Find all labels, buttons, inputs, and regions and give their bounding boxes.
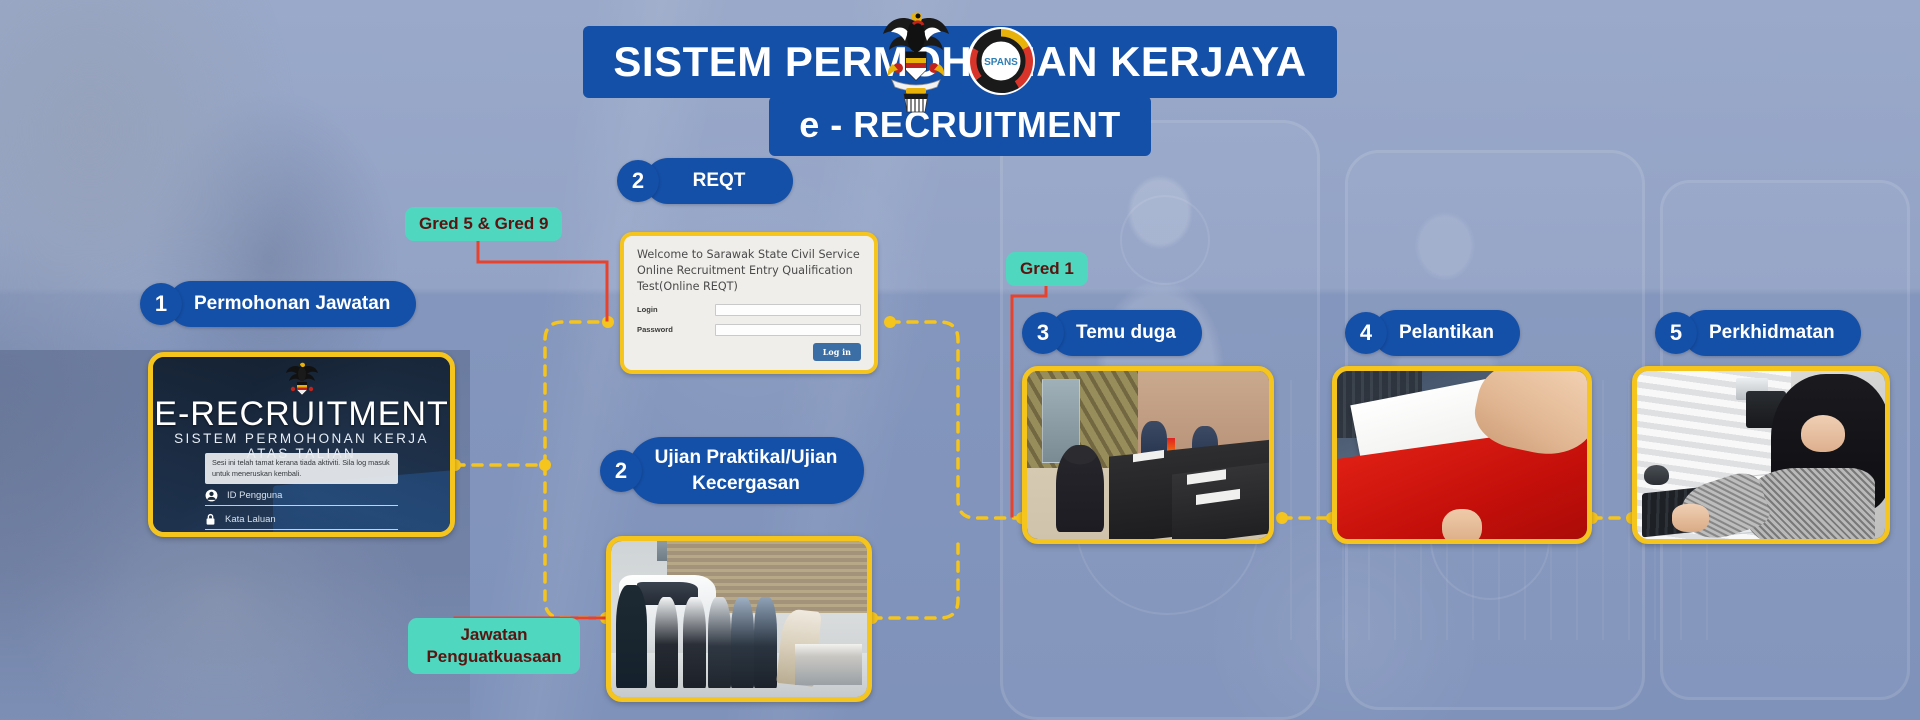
step-2-reqt-label: REQT	[645, 158, 793, 204]
step-3-number: 3	[1022, 312, 1064, 354]
reqt-login-label: Login	[637, 305, 715, 314]
reqt-login-button[interactable]: Log in	[813, 343, 861, 361]
photo-interview	[1027, 371, 1269, 539]
annotation-jawatan-penguatkuasaan: Jawatan Penguatkuasaan	[408, 618, 580, 674]
step-2-reqt[interactable]: 2 REQT	[617, 158, 793, 204]
step-5-label: Perkhidmatan	[1683, 310, 1861, 356]
reqt-password-input[interactable]	[715, 324, 861, 336]
step-2-reqt-number: 2	[617, 160, 659, 202]
annotation-gred-5-9: Gred 5 & Gred 9	[405, 207, 562, 241]
erecruitment-password-label: Kata Laluan	[225, 514, 276, 525]
erecruitment-login-card[interactable]: E-RECRUITMENT SISTEM PERMOHONAN KERJA AT…	[148, 352, 455, 537]
step-4-number: 4	[1345, 312, 1387, 354]
step-1-number: 1	[140, 283, 182, 325]
background-ring-1	[1120, 195, 1210, 285]
erecruitment-session-notice: Sesi ini telah tamat kerana tiada aktivi…	[205, 453, 398, 484]
step-5-number: 5	[1655, 312, 1697, 354]
photo-job-offer-card[interactable]: MR. LETTER OF EMPLOYMENT JOB OFFER LETTE…	[1332, 366, 1592, 544]
reqt-login-input[interactable]	[715, 304, 861, 316]
sarawak-coat-of-arms-icon	[880, 6, 952, 116]
step-2-ujian-label: Ujian Praktikal/Ujian Kecergasan	[628, 437, 864, 504]
reqt-password-row: Password	[637, 324, 861, 336]
lock-icon	[205, 513, 216, 526]
photo-job-offer: MR. LETTER OF EMPLOYMENT JOB OFFER LETTE…	[1337, 371, 1587, 539]
step-2-ujian-number: 2	[600, 450, 642, 492]
logo-group: SPANS	[880, 6, 1036, 116]
step-1-permohonan-jawatan[interactable]: 1 Permohonan Jawatan	[140, 281, 416, 327]
infographic-canvas: SISTEM PERMOHONAN KERJAYA e - RECRUITMEN…	[0, 0, 1920, 720]
step-3-temu-duga[interactable]: 3 Temu duga	[1022, 310, 1202, 356]
erecruitment-userid-label: ID Pengguna	[227, 490, 282, 501]
step-2-ujian-praktikal[interactable]: 2 Ujian Praktikal/Ujian Kecergasan	[600, 437, 864, 504]
photo-practical-test-card[interactable]	[606, 536, 872, 702]
user-circle-icon	[205, 489, 218, 502]
reqt-welcome-text: Welcome to Sarawak State Civil Service O…	[637, 247, 861, 296]
spans-logo-text: SPANS	[984, 57, 1018, 68]
erecruitment-password-field[interactable]: Kata Laluan	[205, 513, 398, 530]
step-4-pelantikan[interactable]: 4 Pelantikan	[1345, 310, 1520, 356]
erecruitment-userid-field[interactable]: ID Pengguna	[205, 489, 398, 506]
erecruitment-heading: E-RECRUITMENT	[153, 395, 450, 434]
step-3-label: Temu duga	[1050, 310, 1202, 356]
spans-logo-icon: SPANS	[966, 26, 1036, 96]
erecruitment-screenshot: E-RECRUITMENT SISTEM PERMOHONAN KERJA AT…	[153, 357, 450, 532]
sarawak-crest-icon	[285, 360, 319, 396]
photo-interview-card[interactable]	[1022, 366, 1274, 544]
reqt-login-panel[interactable]: Welcome to Sarawak State Civil Service O…	[620, 232, 878, 374]
annotation-gred-1: Gred 1	[1006, 252, 1088, 286]
step-1-label: Permohonan Jawatan	[168, 281, 416, 327]
step-4-label: Pelantikan	[1373, 310, 1520, 356]
step-5-perkhidmatan[interactable]: 5 Perkhidmatan	[1655, 310, 1861, 356]
reqt-login-row: Login	[637, 304, 861, 316]
photo-office-service	[1637, 371, 1885, 539]
reqt-password-label: Password	[637, 325, 715, 334]
photo-office-service-card[interactable]	[1632, 366, 1890, 544]
photo-practical-test	[611, 541, 867, 697]
